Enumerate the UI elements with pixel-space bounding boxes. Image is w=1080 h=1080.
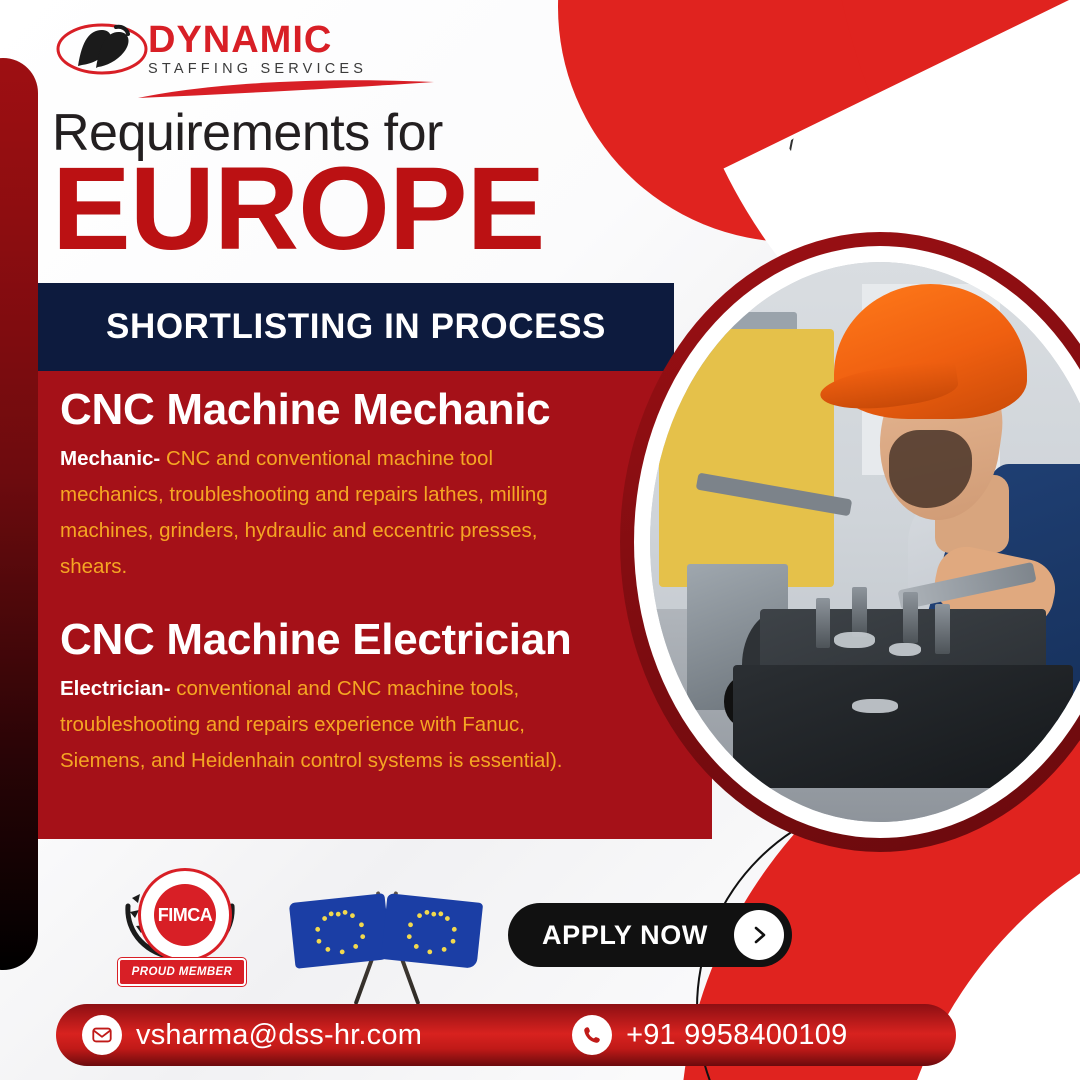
- job-title: CNC Machine Electrician: [60, 615, 580, 665]
- apply-now-button[interactable]: APPLY NOW: [508, 903, 792, 967]
- jobs-panel: CNC Machine Mechanic Mechanic- CNC and c…: [38, 371, 712, 839]
- contact-email[interactable]: vsharma@dss-hr.com: [82, 1015, 422, 1055]
- company-logo: DYNAMIC STAFFING SERVICES: [56, 14, 386, 88]
- phone-icon: [572, 1015, 612, 1055]
- job-listing: CNC Machine Electrician Electrician- con…: [60, 615, 580, 779]
- job-description: Mechanic- CNC and conventional machine t…: [60, 441, 580, 585]
- contact-bar: vsharma@dss-hr.com +91 9958400109: [56, 1004, 956, 1066]
- logo-tagline: STAFFING SERVICES: [148, 60, 367, 78]
- status-banner: SHORTLISTING IN PROCESS: [38, 283, 674, 371]
- status-banner-label: SHORTLISTING IN PROCESS: [106, 307, 606, 347]
- job-role-label: Electrician-: [60, 677, 171, 700]
- chevron-right-icon: [734, 910, 784, 960]
- fimca-ribbon-label: PROUD MEMBER: [132, 966, 233, 978]
- page-title-region: EUROPE: [52, 150, 544, 268]
- apply-now-label: APPLY NOW: [542, 920, 708, 951]
- job-listing: CNC Machine Mechanic Mechanic- CNC and c…: [60, 385, 580, 585]
- worker-photo: [650, 262, 1080, 822]
- logo-company-name: DYNAMIC: [148, 20, 367, 60]
- worker-photo-ring: [620, 232, 1080, 852]
- job-role-label: Mechanic-: [60, 447, 160, 470]
- contact-phone[interactable]: +91 9958400109: [572, 1015, 847, 1055]
- fimca-acronym: FIMCA: [158, 905, 213, 926]
- fimca-core: FIMCA: [154, 884, 216, 946]
- contact-email-text: vsharma@dss-hr.com: [136, 1019, 422, 1052]
- fimca-ring: FIMCA: [138, 868, 232, 962]
- envelope-icon: [82, 1015, 122, 1055]
- dynamic-monogram-icon: [56, 18, 148, 80]
- fimca-badge: FIMCA PROUD MEMBER: [118, 868, 242, 990]
- recruitment-poster: DYNAMIC STAFFING SERVICES Requirements f…: [0, 0, 1080, 1080]
- fimca-ribbon: PROUD MEMBER: [118, 958, 246, 986]
- logo-swoosh-icon: [136, 78, 436, 100]
- decor-left-vertical-bar: [0, 58, 38, 970]
- job-description: Electrician- conventional and CNC machin…: [60, 671, 580, 779]
- european-union-flags-icon: [288, 884, 484, 1004]
- job-title: CNC Machine Mechanic: [60, 385, 580, 435]
- contact-phone-text: +91 9958400109: [626, 1019, 847, 1052]
